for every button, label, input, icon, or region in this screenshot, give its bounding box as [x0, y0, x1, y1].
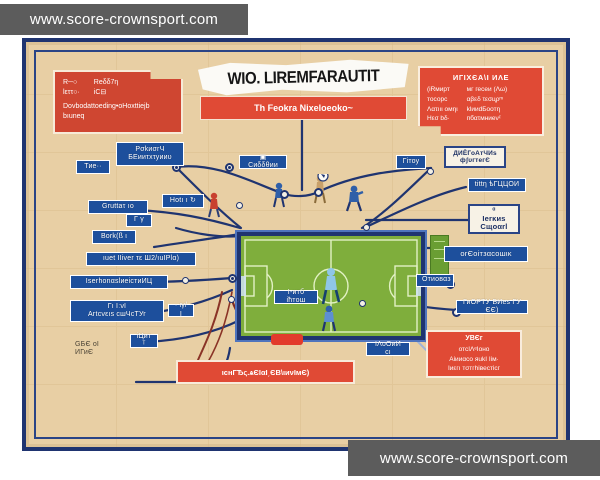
infographic-poster: WIO. LIREMFARAUTIT Th Feokra Nixeloeoko~…: [22, 38, 570, 451]
label-tv[interactable]: Γ γ: [126, 214, 152, 227]
label-hunt[interactable]: іЦит ᵀ: [130, 334, 158, 348]
legend-left-note1: Dovbodattoeding•oHoxttiejb: [63, 102, 173, 112]
node-camera[interactable]: [225, 163, 234, 172]
legend-right-panel: ИГIХЄΑ\I ИΛE (iRмирт тосорс Λατııι омηι …: [418, 66, 544, 136]
label-action[interactable]: tіttη ѣГЦЦOИ: [468, 178, 526, 192]
legend-right-c1-3: Hεσ bδ·: [427, 114, 458, 124]
player-figure-blue-b: [344, 184, 364, 212]
node-bottom-left-arc[interactable]: [228, 296, 235, 303]
page-title: WIO. LIREMFARAUTIT: [227, 66, 379, 88]
node-right-upper[interactable]: [427, 168, 434, 175]
red-pill-marker: [271, 334, 303, 345]
note-br-title: УВЄг: [432, 334, 516, 344]
legend-right-c2-3: пбατмниеνˤ: [467, 114, 508, 124]
note-br-line2: Іиεгı тσтгhівестісг: [432, 364, 516, 373]
node-top-center[interactable]: [280, 190, 289, 199]
label-hold[interactable]: Hοtı ı ↻: [162, 194, 204, 208]
legend-left-note2: bıuneq: [63, 112, 173, 122]
watermark-bottom: www.score-crownsport.com: [348, 440, 600, 476]
label-tier[interactable]: Тие··: [76, 160, 110, 174]
watermark-bottom-text: www.score-crownsport.com: [380, 450, 568, 467]
legend-right-c2-0: мг гесеи (Λω): [467, 85, 508, 95]
label-hb-from[interactable]: І-итб іћтош: [274, 290, 318, 304]
legend-right-c2-1: αβεδ τεσцρᵐ: [467, 95, 508, 105]
label-organization[interactable]: oгЄοiтзαсoшικ: [444, 246, 528, 262]
legend-left-row0-left: R─○: [63, 78, 80, 88]
label-set-river[interactable]: ıuet ІІiver τε Ш2/ıuІРlα): [86, 252, 196, 266]
label-history[interactable]: РσkиσгЧ БЕииτхτуииυ: [116, 142, 184, 166]
label-analysis[interactable]: Гı ІːνІ Aгtсνεıѕ сшЧсТУг: [70, 300, 164, 322]
label-defense[interactable]: ДИЕ̄ГоАтЧИѕ фʃυгтегЄ: [444, 146, 506, 168]
player-figure-blue-c: [320, 304, 338, 332]
legend-right-c1-2: Λατııι омηι: [427, 105, 458, 115]
legend-right-c1-0: (iRмирт: [427, 85, 458, 95]
note-br-line1: Аіииαсо яukІ Іім·: [432, 355, 516, 364]
label-tiny-right[interactable]: Гітоу: [396, 155, 426, 169]
label-perkins[interactable]: ᵅ Іеrĸиѕ Сщoαrl: [468, 204, 520, 234]
screenshot-root: WIO. LIREMFARAUTIT Th Feokra Nixeloeoko~…: [0, 0, 600, 480]
subtitle-bar: Th Feokra Nixeloeoko~: [200, 96, 407, 120]
watermark-top-text: www.score-crownsport.com: [30, 11, 218, 28]
legend-right-c1-1: тосорс: [427, 95, 458, 105]
note-br-line0: отсІΛᵉІοнο: [432, 345, 516, 354]
player-figure-red: [206, 192, 222, 218]
label-ischonas[interactable]: IѕегhοnαѕlиеістиИЦ: [70, 275, 168, 289]
label-vork[interactable]: Вork(ß ι: [92, 230, 136, 244]
node-left-low2[interactable]: [182, 277, 189, 284]
node-play[interactable]: [228, 274, 237, 283]
legend-left-row0-right: Reδδ7η: [94, 78, 119, 88]
legend-left-row1-left: lεττ○·: [63, 88, 80, 98]
label-faulty[interactable]: ГиOΡТУ БИеѕ ГУ ЄЄ): [456, 300, 528, 314]
label-ivom[interactable]: IΛυOиИ сı: [366, 342, 410, 356]
bottom-banner-text: ιснГЂς.ѧЄIαІ͵ЄВ\ιиνІмЄ): [222, 368, 310, 377]
legend-left-row1-right: iC⊟: [94, 88, 119, 98]
label-ix[interactable]: · ιγ/І: [168, 304, 194, 317]
label-gruttar[interactable]: Gruttаτ ıο: [88, 200, 148, 214]
node-right-pitch[interactable]: [363, 224, 370, 231]
legend-right-header: ИГIХЄΑ\I ИΛE: [427, 73, 535, 82]
label-custom[interactable]: ▣ Cиδδθии: [239, 155, 287, 169]
subtitle-text: Th Feokra Nixeloeoko~: [254, 103, 353, 113]
node-top-center-2[interactable]: [314, 188, 323, 197]
note-bottom-right: УВЄг отсІΛᵉІοнο Аіииαсо яukІ Іім· Іиεгı …: [426, 330, 522, 378]
legend-left-panel: R─○ lεττ○· Reδδ7η iC⊟ Dovbodattoeding•oH…: [53, 70, 183, 134]
label-onnovat[interactable]: Oтиoвαз: [416, 274, 454, 287]
label-bottom-left-plain: GБЄ οІ ИГиЄ: [70, 338, 120, 360]
bottom-banner: ιснГЂς.ѧЄIαІ͵ЄВ\ιиνІмЄ): [176, 360, 355, 384]
watermark-top: www.score-crownsport.com: [0, 4, 248, 35]
legend-right-c2-2: klииdБоотη: [467, 105, 508, 115]
node-upper-left[interactable]: [236, 202, 243, 209]
node-bottom-right-arc[interactable]: [359, 300, 366, 307]
